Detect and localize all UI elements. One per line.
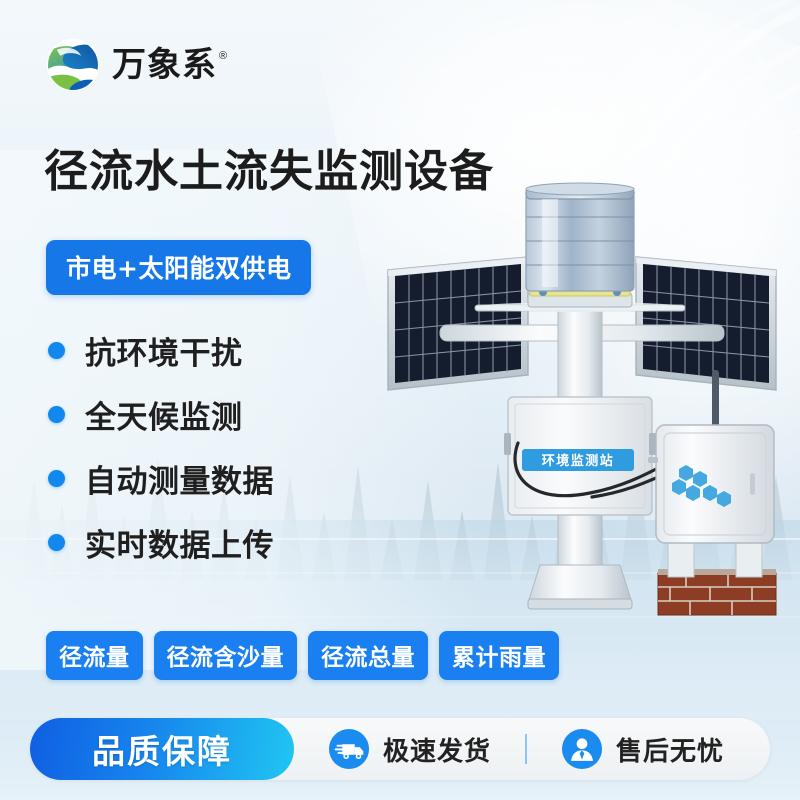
feature-label: 抗环境干扰 [85,328,243,373]
globe-swirl-logo-icon [44,36,102,94]
service-item-aftersales[interactable]: 售后无忧 [561,728,724,770]
feature-label: 自动测量数据 [85,456,274,501]
support-person-icon [561,728,603,770]
feature-list: 抗环境干扰 全天候监测 自动测量数据 实时数据上传 [48,318,274,574]
service-label: 售后无忧 [616,731,724,768]
truck-fast-icon [328,728,370,770]
bullet-dot-icon [48,406,65,423]
service-label: 极速发货 [383,731,491,768]
bullet-dot-icon [48,534,65,551]
product-illustration: 环境监测站 [380,175,780,635]
parameter-tag-list: 径流量 径流含沙量 径流总量 累计雨量 [46,631,559,680]
parameter-tag[interactable]: 径流量 [46,631,143,680]
solar-panel-left [388,257,528,390]
bullet-dot-icon [48,470,65,487]
feature-label: 实时数据上传 [85,520,274,565]
station-label: 环境监测站 [542,453,615,469]
brand-name: 万象系 [112,48,217,82]
feature-label: 全天候监测 [85,392,243,437]
service-footer-bar: 品质保障 极速发货 [30,718,770,780]
feature-item: 自动测量数据 [48,446,274,510]
footer-divider [525,734,527,764]
control-box: 环境监测站 [504,397,656,515]
parameter-tag[interactable]: 径流总量 [308,631,428,680]
brand-logo: 万象系 ® [44,36,227,94]
equipment-cabinet [648,425,774,577]
monitoring-station-graphic: 环境监测站 [380,175,780,635]
parameter-tag[interactable]: 径流含沙量 [154,631,298,680]
poster-canvas: 万象系 ® 径流水土流失监测设备 市电+太阳能双供电 抗环境干扰 全天候监测 自… [0,0,800,800]
quality-guarantee-badge[interactable]: 品质保障 [30,718,294,780]
service-item-shipping[interactable]: 极速发货 [328,728,491,770]
trademark-symbol: ® [219,50,227,62]
feature-item: 实时数据上传 [48,510,274,574]
feature-item: 全天候监测 [48,382,274,446]
power-badge: 市电+太阳能双供电 [46,240,311,295]
parameter-tag[interactable]: 累计雨量 [439,631,559,680]
bullet-dot-icon [48,342,65,359]
feature-item: 抗环境干扰 [48,318,274,382]
solar-panel-right [636,257,776,390]
